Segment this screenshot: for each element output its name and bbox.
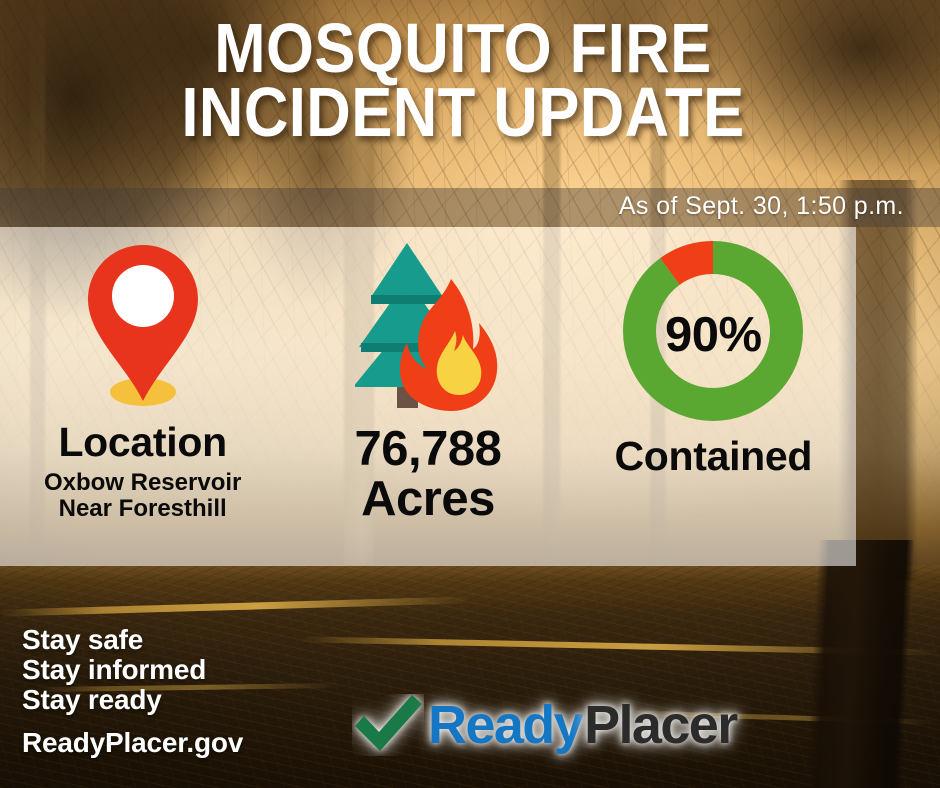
location-heading: Location	[58, 422, 226, 463]
containment-art: 90%	[571, 227, 856, 412]
safety-slogan: Stay safe Stay informed Stay ready	[22, 625, 206, 715]
website-url[interactable]: ReadyPlacer.gov	[22, 727, 243, 759]
logo-brand-placer: Placer	[584, 698, 737, 752]
logo-brand-ready: Ready	[428, 698, 582, 752]
stat-column-acres: 76,788 Acres	[285, 227, 570, 566]
location-art	[0, 227, 285, 412]
stats-columns: Location Oxbow Reservoir Near Foresthill	[0, 227, 856, 566]
acres-number: 76,788	[355, 424, 502, 474]
green-checkmark-icon	[352, 694, 424, 756]
map-pin-icon	[84, 239, 202, 412]
slogan-line-2: Stay informed	[22, 655, 206, 685]
title-line-1: MOSQUITO FIRE	[56, 16, 871, 80]
readyplacer-logo[interactable]: ReadyPlacer	[352, 694, 737, 756]
containment-percent: 90%	[623, 307, 803, 363]
tree-on-fire-icon	[355, 235, 501, 420]
stat-column-location: Location Oxbow Reservoir Near Foresthill	[0, 227, 285, 566]
stat-column-containment: 90% Contained	[571, 227, 856, 566]
acres-art	[285, 227, 570, 412]
slogan-line-1: Stay safe	[22, 625, 206, 655]
title-line-2: INCIDENT UPDATE	[56, 80, 871, 144]
incident-update-poster: MOSQUITO FIRE INCIDENT UPDATE As of Sept…	[0, 0, 940, 788]
location-detail-line-1: Oxbow Reservoir	[44, 470, 241, 496]
poster-title: MOSQUITO FIRE INCIDENT UPDATE	[0, 16, 940, 145]
timestamp-text: As of Sept. 30, 1:50 p.m.	[619, 192, 904, 221]
location-detail: Oxbow Reservoir Near Foresthill	[44, 470, 241, 522]
donut-chart-icon: 90%	[623, 241, 803, 426]
slogan-line-3: Stay ready	[22, 685, 206, 715]
containment-heading: Contained	[614, 436, 812, 477]
acres-unit: Acres	[361, 474, 495, 524]
location-detail-line-2: Near Foresthill	[44, 496, 241, 522]
